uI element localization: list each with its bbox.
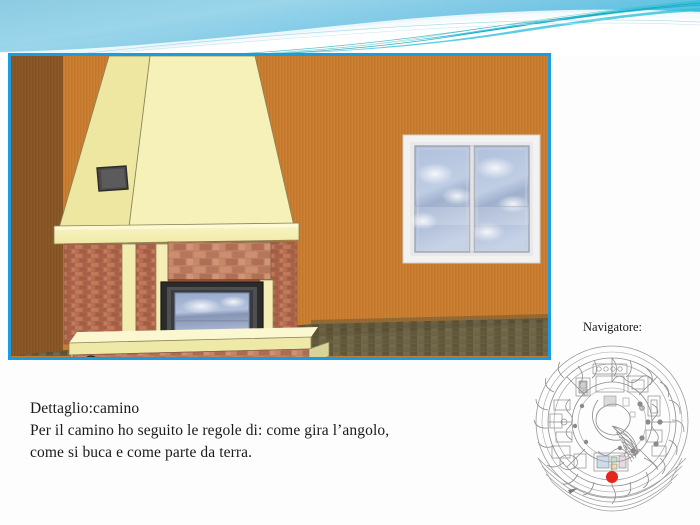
current-position-marker (606, 471, 618, 483)
presentation-slide: Dettaglio:camino Per il camino ho seguit… (0, 0, 700, 525)
fireplace-sketchup-render (11, 56, 548, 357)
navigator-label: Navigatore: (583, 320, 642, 335)
fireplace-image-frame (8, 53, 551, 360)
caption-title: Dettaglio:camino (30, 398, 500, 420)
cream-strip-left (122, 244, 136, 344)
caption-line-3: come si buca e come parte da terra. (30, 442, 500, 464)
decorative-wave-banner (0, 0, 700, 56)
circular-floor-plan-navigator[interactable] (520, 338, 700, 525)
caption-block: Dettaglio:camino Per il camino ho seguit… (30, 398, 500, 464)
brick-strip-inner-left (136, 244, 156, 344)
brick-pillar-left (64, 244, 122, 344)
brick-lintel (168, 242, 271, 280)
caption-line-2: Per il camino ho seguito le regole di: c… (30, 420, 500, 442)
window-two-pane (403, 135, 540, 263)
